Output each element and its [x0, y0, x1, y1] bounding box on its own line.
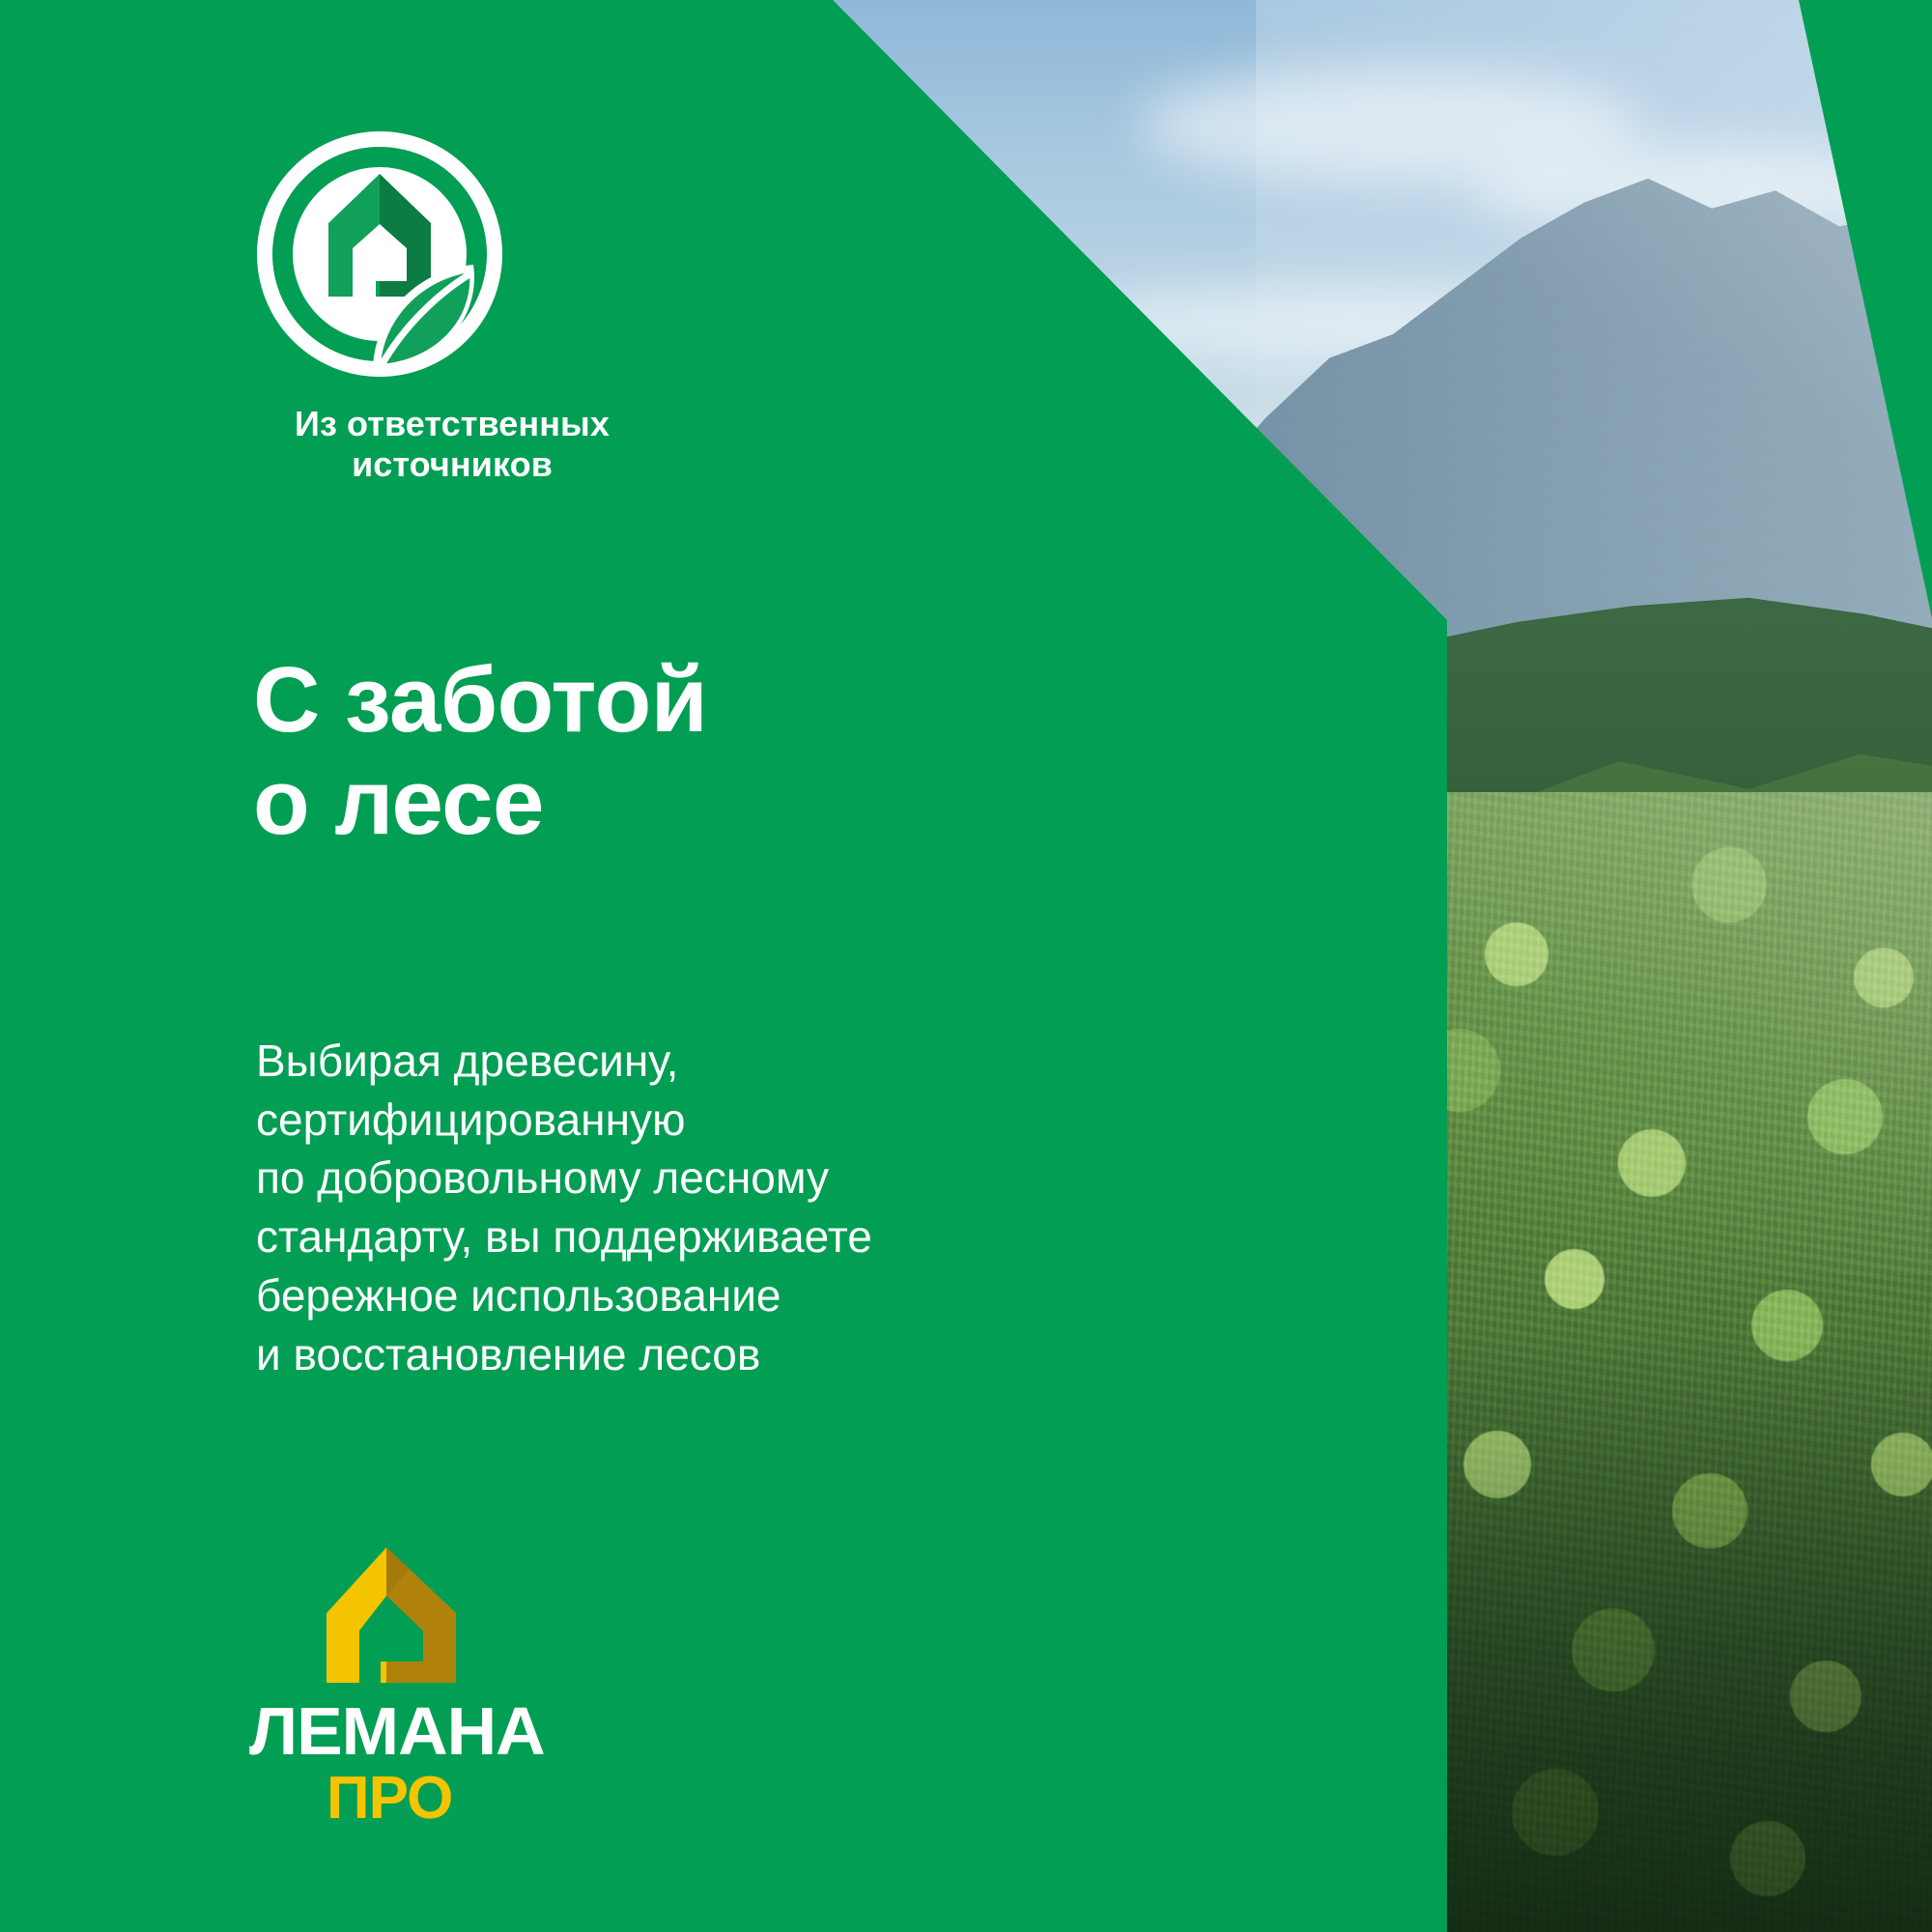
lemana-house-icon [313, 1544, 460, 1687]
banner-canvas: Из ответственных источников С заботой о … [0, 0, 1932, 1932]
brand-lockup: ЛЕМАНА ПРО [249, 1544, 597, 1826]
house-leaf-in-circle-icon [249, 124, 510, 384]
page-title: С заботой о лесе [253, 649, 707, 853]
lemana-pro-text: ПРО [327, 1770, 452, 1826]
content-column: Из ответственных источников С заботой о … [0, 0, 1447, 1932]
lemana-pro-subwordmark: ПРО [327, 1770, 497, 1826]
body-copy: Выбирая древесину, сертифицированную по … [256, 1032, 1009, 1383]
emblem-caption: Из ответственных источников [249, 404, 655, 486]
lemana-wordmark: ЛЕМАНА [249, 1700, 572, 1762]
lemana-wordmark-text: ЛЕМАНА [249, 1700, 545, 1762]
